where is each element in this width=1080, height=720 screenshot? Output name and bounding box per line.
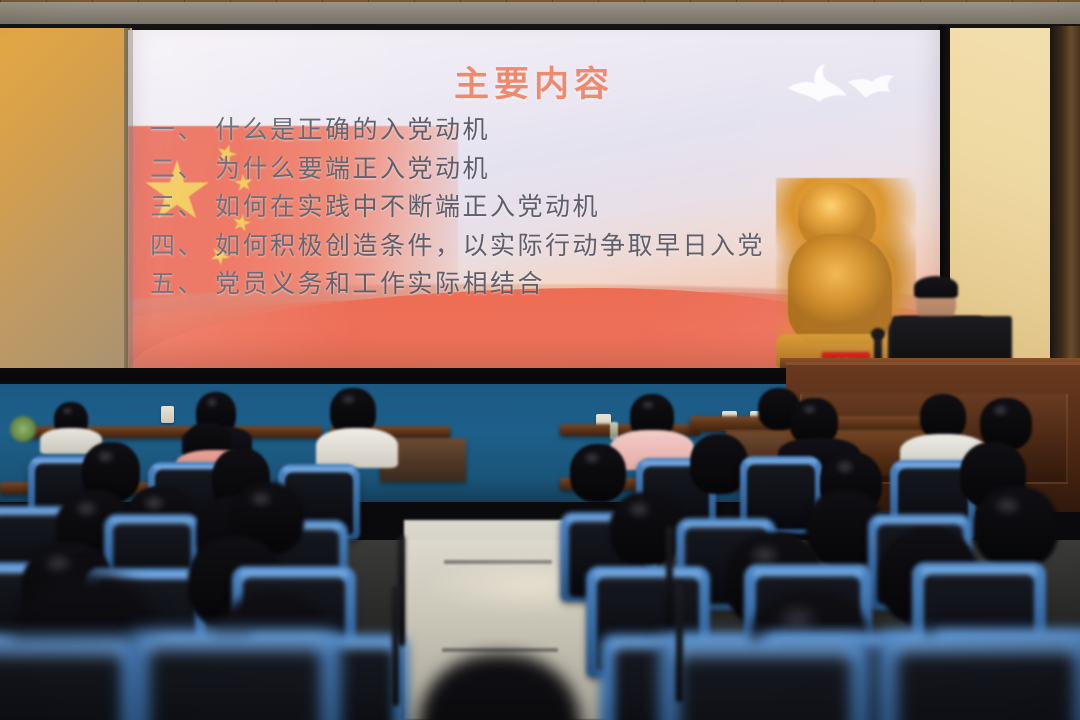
hair-highlight [640, 399, 656, 412]
slide-item-number: 四、 [150, 233, 205, 260]
seat-highlight [239, 570, 348, 581]
hair-highlight [340, 393, 357, 406]
seat-highlight [752, 569, 865, 581]
seat-highlight [143, 637, 328, 655]
audience-shoulders [316, 428, 398, 468]
seat-highlight [891, 639, 1080, 658]
seat-leg [392, 586, 399, 706]
seat-leg [666, 526, 673, 626]
hair-highlight [205, 396, 219, 408]
slide-title: 主要内容 [128, 56, 940, 107]
slide-item-number: 一、 [150, 117, 205, 144]
slide-item-text: 为什么要端正入党动机 [215, 156, 490, 183]
hair-highlight [992, 494, 1022, 517]
lecture-hall-photo: 主要内容 一、什么是正确的入党动机 二、为什么要端正入党动机 三、如何在实践中不… [0, 0, 1080, 720]
slide-item-number: 三、 [150, 194, 205, 221]
seat-leg [398, 536, 405, 646]
seat-highlight [0, 643, 128, 660]
seat-highlight [283, 467, 355, 475]
seat-highlight [682, 522, 770, 531]
hair-highlight [834, 458, 856, 475]
slide-list-item: 一、什么是正确的入党动机 [150, 112, 930, 151]
seat-highlight [920, 567, 1038, 579]
hair-highlight [73, 498, 100, 519]
seat-pad [897, 651, 1074, 720]
projection-screen: 主要内容 一、什么是正确的入党动机 二、为什么要端正入党动机 三、如何在实践中不… [128, 30, 940, 370]
audience-member [420, 654, 580, 720]
slide-item-text: 什么是正确的入党动机 [215, 117, 490, 144]
slide-item-text: 如何积极创造条件，以实际行动争取早日入党 [215, 233, 765, 260]
slide-bullet-list: 一、什么是正确的入党动机 二、为什么要端正入党动机 三、如何在实践中不断端正入党… [150, 112, 930, 305]
slide-list-item: 二、为什么要端正入党动机 [150, 151, 930, 190]
hair-highlight [95, 448, 116, 465]
slide-list-item: 三、如何在实践中不断端正入党动机 [150, 189, 930, 228]
slide-item-number: 二、 [150, 156, 205, 183]
hair-highlight [991, 403, 1010, 418]
audience-seating [0, 386, 1080, 720]
slide-item-text: 党员义务和工作实际相结合 [215, 271, 545, 298]
audience-member [974, 486, 1058, 568]
wall-far-right-wood [1050, 26, 1080, 386]
wall-left-warm [0, 28, 132, 380]
seat-highlight [593, 570, 702, 581]
seat-highlight [745, 459, 817, 467]
hair-highlight [248, 489, 274, 509]
seat-highlight [673, 643, 858, 661]
auditorium-seat[interactable] [0, 636, 140, 720]
seat-leg [676, 582, 683, 702]
hair-highlight [801, 403, 818, 416]
auditorium-seat[interactable] [130, 630, 340, 720]
hair-highlight [626, 499, 652, 520]
seat-highlight [874, 518, 966, 528]
screen-left-edge [128, 30, 133, 370]
slide-list-item: 四、如何积极创造条件，以实际行动争取早日入党 [150, 228, 930, 267]
seat-highlight [110, 518, 194, 527]
auditorium-seat[interactable] [878, 632, 1080, 720]
hair-highlight [61, 406, 73, 416]
slide-item-text: 如何在实践中不断端正入党动机 [215, 194, 600, 221]
auditorium-seat[interactable] [660, 636, 870, 720]
seat-pad [0, 653, 122, 720]
seat-pad [679, 654, 851, 720]
slide-item-number: 五、 [150, 271, 205, 298]
presenter-hair [914, 276, 958, 298]
slide-list-item: 五、党员义务和工作实际相结合 [150, 266, 930, 305]
plant-decor [10, 416, 36, 442]
seat-pad [149, 648, 321, 720]
person-head [420, 654, 580, 720]
microphone-head [871, 328, 885, 340]
hair-highlight [141, 493, 166, 513]
